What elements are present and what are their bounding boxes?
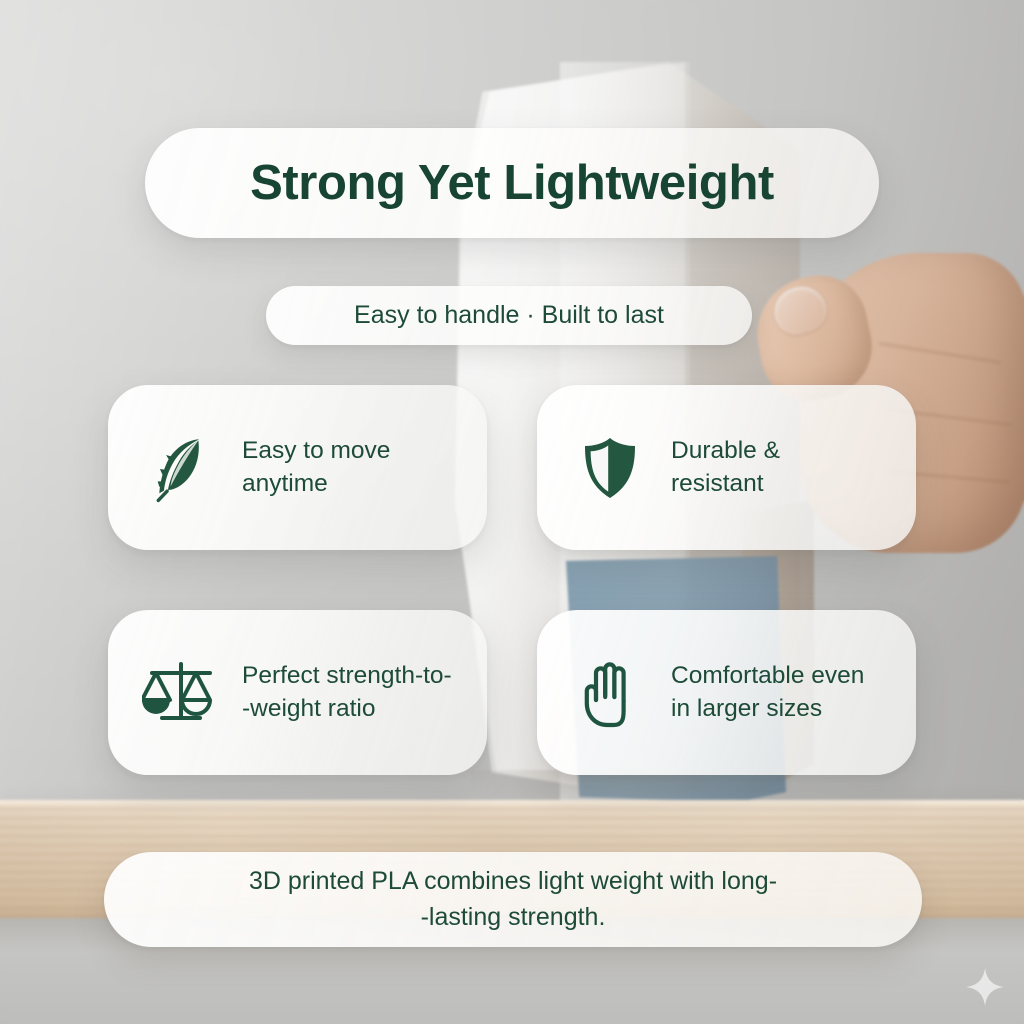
feature-label-line1: Durable & <box>671 437 780 464</box>
feature-label-line2: resistant <box>671 470 764 497</box>
subtitle-pill: Easy to handle · Built to last <box>266 286 752 345</box>
open-hand-icon <box>571 654 649 732</box>
footer-line2: -lasting strength. <box>421 903 606 931</box>
title-pill: Strong Yet Lightweight <box>145 128 879 238</box>
feature-card-strength-to-weight[interactable]: Perfect strength-to- -weight ratio <box>108 610 487 775</box>
shield-icon <box>571 429 649 507</box>
feature-label-line2: in larger sizes <box>671 695 822 722</box>
product-feature-poster: Strong Yet Lightweight Easy to handle · … <box>0 0 1024 1024</box>
overlay-content: Strong Yet Lightweight Easy to handle · … <box>0 0 1024 1024</box>
feature-label-line1: Perfect strength-to- <box>242 662 452 689</box>
feature-card-comfortable[interactable]: Comfortable even in larger sizes <box>537 610 916 775</box>
feature-card-durable[interactable]: Durable & resistant <box>537 385 916 550</box>
feature-card-label: Perfect strength-to- -weight ratio <box>242 660 452 725</box>
feature-label-line2: anytime <box>242 470 328 497</box>
feature-card-label: Easy to move anytime <box>242 435 390 500</box>
feature-card-label: Comfortable even in larger sizes <box>671 660 864 725</box>
footer-line1: 3D printed PLA combines light weight wit… <box>249 867 777 895</box>
feature-card-grid: Easy to move anytime Durable & resistant <box>108 385 922 775</box>
footer-caption: 3D printed PLA combines light weight wit… <box>209 864 817 935</box>
feature-card-easy-to-move[interactable]: Easy to move anytime <box>108 385 487 550</box>
page-title: Strong Yet Lightweight <box>250 155 774 211</box>
feature-label-line1: Easy to move <box>242 437 390 464</box>
feature-card-label: Durable & resistant <box>671 435 780 500</box>
sparkle-icon <box>964 966 1006 1008</box>
feature-label-line2: -weight ratio <box>242 695 375 722</box>
feather-icon <box>142 429 220 507</box>
feature-label-line1: Comfortable even <box>671 662 864 689</box>
page-subtitle: Easy to handle · Built to last <box>354 301 664 330</box>
balance-scale-icon <box>142 654 220 732</box>
footer-pill: 3D printed PLA combines light weight wit… <box>104 852 922 947</box>
